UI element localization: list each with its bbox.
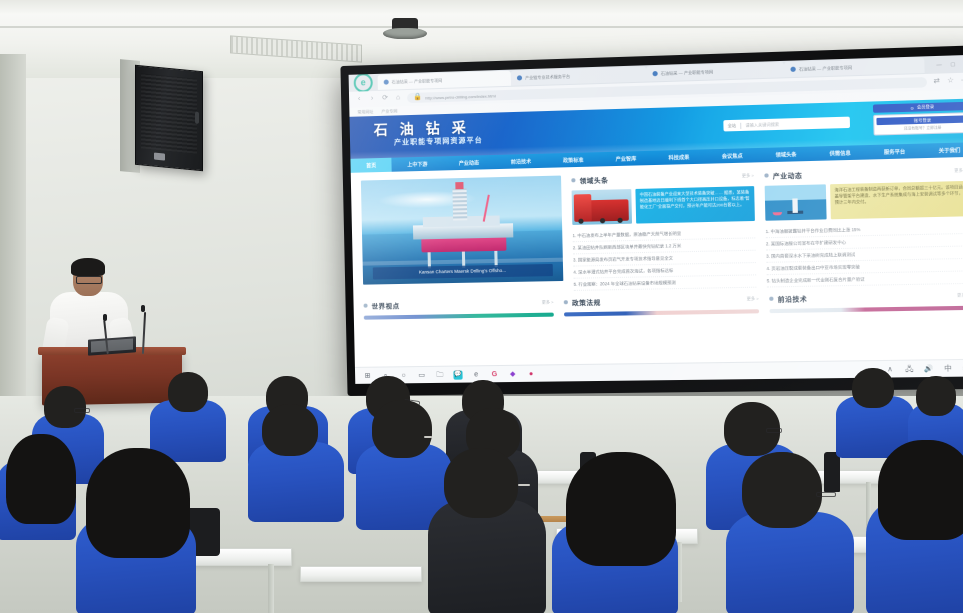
- tab-favicon-icon: [384, 80, 389, 85]
- news-title: 5. 钻头制造企业完成新一代金刚石复合片量产验证: [767, 276, 865, 284]
- supply-vessel-icon: [773, 212, 783, 215]
- app-icon-pink[interactable]: ●: [526, 369, 535, 378]
- platform-derrick: [792, 198, 798, 212]
- wall-display-screen: e 石油钻采 — 产业职能专项网 产业链专业技术服务平台 石油钻采 — 产业职能…: [340, 45, 963, 396]
- truck-cab: [573, 194, 591, 222]
- website-content: 石 油 钻 采 产业职能专项网资源平台 全站 请输入关键词搜索 ⊙ 会员登录: [349, 98, 963, 366]
- derrick-crown: [455, 182, 463, 190]
- ime-icon[interactable]: 中: [943, 364, 953, 373]
- wall-speaker-icon: [135, 65, 203, 172]
- headlines-title: 领域头条: [579, 174, 608, 185]
- nav-item-headlines[interactable]: 领域头条: [759, 147, 813, 163]
- news-title: 2. 某油田钻井队刷新西部区块单井最快完钻纪录 1.2 万米: [573, 243, 681, 251]
- chair: [824, 452, 840, 492]
- task-view-icon[interactable]: ▭: [417, 370, 426, 379]
- browser-window: e 石油钻采 — 产业职能专项网 产业链专业技术服务平台 石油钻采 — 产业职能…: [349, 55, 963, 384]
- user-icon: ⊙: [910, 105, 914, 110]
- section-bullet-icon: [769, 297, 773, 301]
- headlines-feature-text: 中国石油装备产业迎来大型技术装备突破…… 据悉，某装备制造基地近日顺利下线首个大…: [635, 186, 755, 224]
- presenter-hair: [71, 258, 105, 276]
- headlines-feature[interactable]: 中国石油装备产业迎来大型技术装备突破…… 据悉，某装备制造基地近日顺利下线首个大…: [572, 186, 755, 225]
- truck-wheel: [600, 218, 605, 224]
- policy-more-link[interactable]: 更多 >: [747, 296, 759, 302]
- nav-item-industry-news[interactable]: 产业动态: [443, 155, 495, 170]
- home-icon[interactable]: ⌂: [394, 94, 402, 102]
- policy-accent-bar: [564, 309, 759, 316]
- ceiling-seam: [0, 0, 963, 14]
- google-icon[interactable]: G: [490, 370, 499, 379]
- industry-column: 产业动态 更多 > 海洋石油工程装备制造再获新订单，合同总额超三十亿元。该项目涵…: [764, 165, 963, 287]
- frontier-tech-more-link[interactable]: 更多 >: [957, 292, 963, 298]
- ceiling-seam-line: [0, 26, 963, 28]
- app-icon-purple[interactable]: ◆: [508, 369, 517, 378]
- search-category-select[interactable]: 全站: [728, 122, 742, 129]
- world-views-header: 世界视点 更多 >: [363, 297, 553, 310]
- section-bullet-icon: [571, 178, 575, 182]
- news-title: 2. 某国际油服公司宣布在华扩建研发中心: [766, 239, 846, 247]
- microphone-head-left: [103, 314, 107, 321]
- conference-room-scene: e 石油钻采 — 产业职能专项网 产业链专业技术服务平台 石油钻采 — 产业职能…: [0, 0, 963, 613]
- login-dropdown: 账号登录 还没有账号？立即注册: [873, 112, 963, 135]
- register-link[interactable]: 还没有账号？立即注册: [877, 125, 963, 133]
- world-views-accent-bar: [364, 313, 554, 320]
- speaker-knob: [195, 112, 199, 124]
- tab-title: 石油钻采 — 产业职能专项网: [392, 77, 443, 85]
- drilling-truck-thumbnail: [572, 189, 632, 225]
- world-views-section: 世界视点 更多 >: [363, 297, 553, 319]
- offshore-rig-image[interactable]: Kansan Charters Maersk Drilling's Offsho…: [361, 176, 563, 285]
- display-viewport: e 石油钻采 — 产业职能专项网 产业链专业技术服务平台 石油钻采 — 产业职能…: [349, 55, 963, 384]
- news-title: 3. 国内首套深水水下采油树完成陆上联调测试: [766, 251, 855, 259]
- news-title: 4. 页岩油压裂成套装备出口中亚市场实现零突破: [766, 264, 860, 272]
- news-title: 5. 行业观察：2024 年全球石油钻采设备市场规模预测: [574, 279, 676, 287]
- nav-item-think-tank[interactable]: 产业智库: [599, 151, 652, 167]
- nav-item-achievements[interactable]: 科技成果: [652, 149, 706, 165]
- member-login-bar[interactable]: ⊙ 会员登录: [873, 102, 963, 113]
- account-login-button[interactable]: 账号登录: [876, 115, 963, 125]
- section-bullet-icon: [764, 173, 768, 177]
- tab-title: 石油钻采 — 产业职能专项网: [661, 69, 713, 77]
- nav-item-frontier-tech[interactable]: 前沿技术: [495, 154, 547, 170]
- tab-favicon-icon: [790, 67, 795, 72]
- headlines-more-link[interactable]: 更多 >: [742, 173, 754, 179]
- nav-item-home[interactable]: 首页: [350, 158, 391, 173]
- nav-item-upstream-downstream[interactable]: 上中下游: [392, 156, 444, 171]
- tab-title: 产业链专业技术服务平台: [525, 73, 570, 80]
- nav-item-policy-standards[interactable]: 政策标准: [547, 152, 600, 168]
- file-explorer-icon[interactable]: 🗀: [435, 370, 444, 379]
- member-login-label: 会员登录: [917, 104, 934, 111]
- frontier-tech-header: 前沿技术 更多 >: [769, 290, 963, 304]
- industry-more-link[interactable]: 更多 >: [954, 167, 963, 174]
- bookmark-item[interactable]: 产业专网: [381, 108, 397, 114]
- site-content-columns: Kansan Charters Maersk Drilling's Offsho…: [351, 157, 963, 295]
- reload-icon[interactable]: ⟳: [381, 95, 389, 103]
- derrick-tower-icon: [453, 188, 468, 220]
- industry-news-list: 1. 中海油服披露钻井平台作业日费同比上涨 15% 2. 某国际油服公司宣布在华…: [766, 221, 963, 287]
- news-title: 3. 国家能源局发布页岩气开发专项技术指导意见全文: [573, 255, 673, 263]
- speaker-grill: [141, 73, 197, 153]
- taskbar-spacer: [545, 370, 855, 374]
- news-title: 1. 中石油发布上半年产量数据，原油稳产天然气增长明显: [573, 230, 682, 238]
- tab-favicon-icon: [517, 75, 522, 80]
- url-text: http://www.petro-drilling.com/index.html: [425, 93, 495, 100]
- industry-feature[interactable]: 海洋石油工程装备制造再获新订单，合同总额超三十亿元。该项目涵盖导管架平台建造、水…: [765, 181, 963, 221]
- section-bullet-icon: [564, 300, 568, 304]
- section-bullet-icon: [364, 304, 368, 308]
- edge-icon[interactable]: e: [472, 370, 481, 379]
- headlines-news-list: 1. 中石油发布上半年产量数据，原油稳产天然气增长明显 2. 某油田钻井队刷新西…: [572, 226, 756, 291]
- laptop-screen: [91, 339, 133, 353]
- windows-start-icon[interactable]: ⊞: [363, 371, 372, 380]
- frontier-tech-section: 前沿技术 更多 >: [769, 290, 963, 313]
- projector-lens-icon: [383, 28, 427, 39]
- nav-item-conference-focus[interactable]: 会议焦点: [705, 148, 759, 164]
- minimize-button[interactable]: —: [932, 61, 946, 68]
- desk: [300, 566, 422, 582]
- favorite-icon[interactable]: ☆: [946, 77, 955, 86]
- maximize-button[interactable]: ▢: [946, 61, 960, 68]
- tab-title: 石油钻采 — 产业职能专项网: [799, 64, 852, 72]
- industry-section-header: 产业动态 更多 >: [764, 165, 963, 180]
- truck-wheel: [578, 219, 583, 225]
- industry-feature-text: 海洋石油工程装备制造再获新订单，合同总额超三十亿元。该项目涵盖导管架平台建造、水…: [830, 181, 963, 219]
- back-icon[interactable]: ‹: [355, 95, 363, 103]
- share-icon[interactable]: ⇄: [932, 78, 941, 87]
- frontier-tech-accent-bar: [769, 306, 963, 313]
- network-icon[interactable]: 🖧: [904, 364, 914, 373]
- close-button[interactable]: ✕: [960, 61, 963, 68]
- news-title: 4. 深水半潜式钻井平台完成首次海试，各项指标达标: [573, 267, 673, 275]
- forward-icon[interactable]: ›: [368, 95, 376, 103]
- speaker-badge: [154, 153, 165, 161]
- policy-header: 政策法规 更多 >: [564, 294, 759, 308]
- hero-image-column: Kansan Charters Maersk Drilling's Offsho…: [361, 176, 564, 295]
- offshore-platform-thumbnail: [765, 184, 827, 220]
- search-input[interactable]: 请输入关键词搜索: [745, 121, 779, 128]
- lock-icon: 🔒: [413, 94, 421, 102]
- browser-logo-icon: e: [354, 73, 373, 93]
- nav-item-supply-demand[interactable]: 供需信息: [813, 145, 868, 161]
- truck-wheel: [618, 218, 624, 224]
- nav-item-about-us[interactable]: 关于我们: [922, 142, 963, 158]
- microphone-head-right: [141, 305, 145, 312]
- frontier-tech-title: 前沿技术: [778, 293, 808, 304]
- desk-leg: [268, 564, 274, 613]
- world-views-title: 世界视点: [371, 300, 399, 311]
- nav-item-service-platform[interactable]: 服务平台: [867, 144, 922, 160]
- presenter-glasses-icon: [76, 276, 102, 284]
- headlines-column: 领域头条 更多 >: [571, 171, 756, 291]
- policy-section: 政策法规 更多 >: [564, 294, 759, 317]
- headlines-section-header: 领域头条 更多 >: [571, 171, 754, 186]
- wechat-icon[interactable]: 💬: [453, 370, 462, 379]
- world-views-more-link[interactable]: 更多 >: [542, 299, 554, 305]
- presenter-laptop: [88, 336, 136, 355]
- industry-title: 产业动态: [773, 169, 803, 180]
- bookmark-item[interactable]: 常用网址: [357, 109, 373, 115]
- policy-title: 政策法规: [572, 297, 601, 308]
- volume-icon[interactable]: 🔊: [924, 364, 934, 373]
- news-title: 1. 中海油服披露钻井平台作业日费同比上涨 15%: [766, 226, 861, 234]
- wall-left-edge: [0, 54, 26, 434]
- login-panel: ⊙ 会员登录 账号登录 还没有账号？立即注册: [873, 102, 963, 136]
- tab-favicon-icon: [652, 71, 657, 76]
